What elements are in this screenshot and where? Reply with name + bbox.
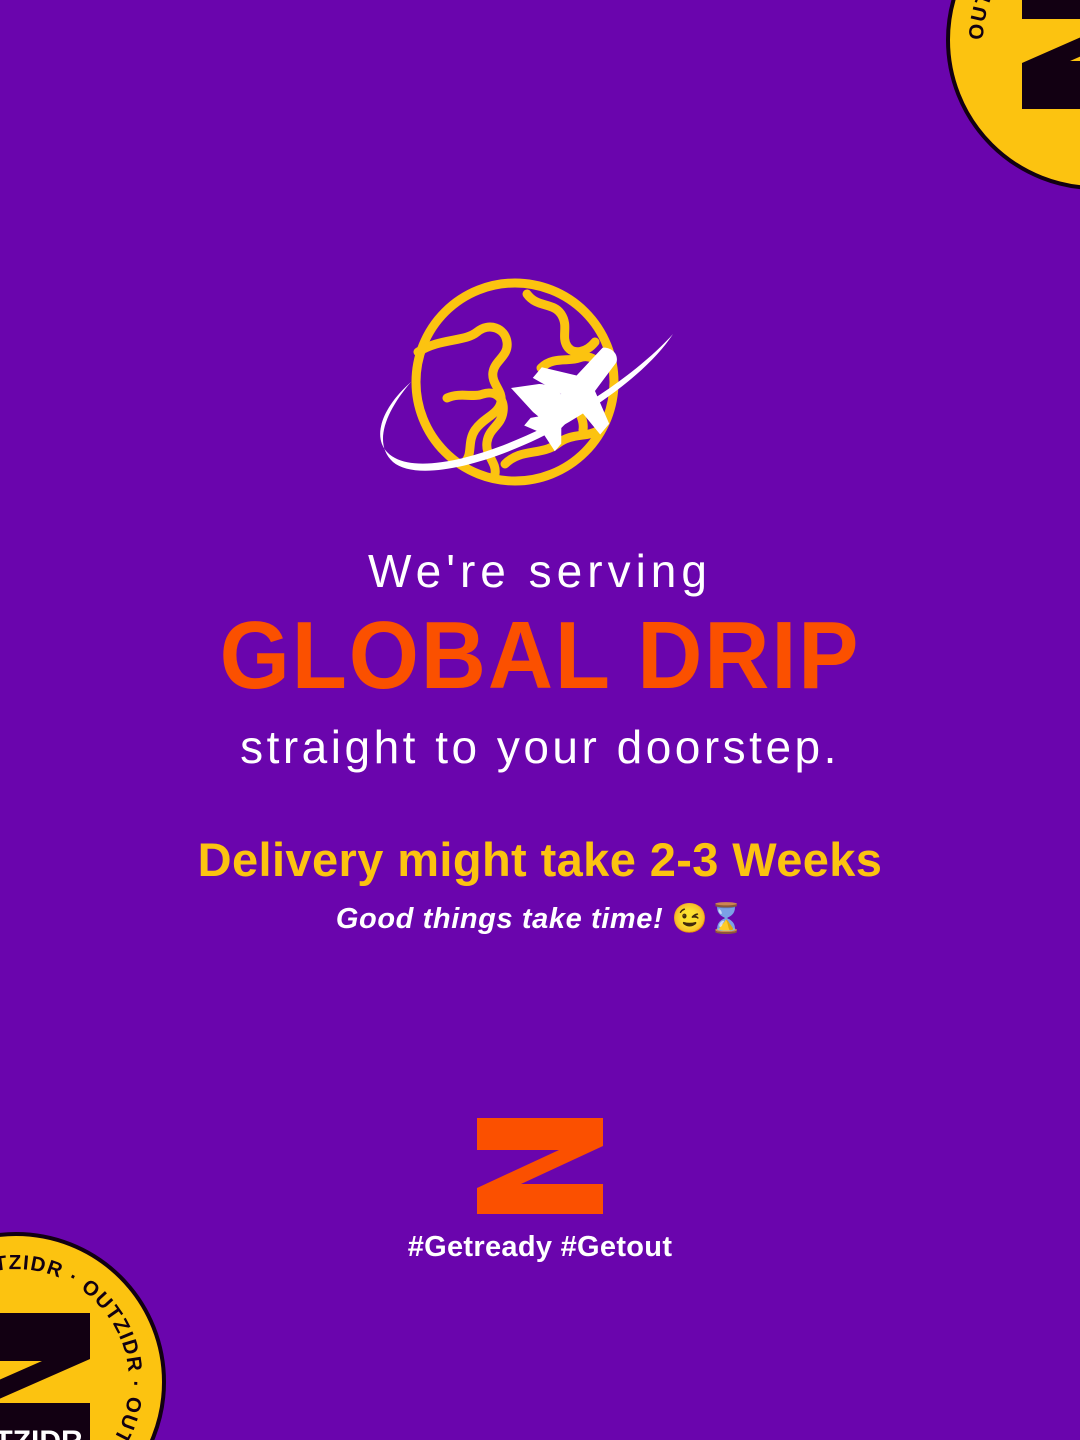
tagline-text: Good things take time! 😉⌛	[0, 905, 1080, 934]
globe-airplane-svg	[355, 272, 725, 504]
copy-block: We're serving GLOBAL DRIP straight to yo…	[0, 548, 1080, 934]
hashtags-text: #Getready #Getout	[0, 1231, 1080, 1264]
poster-canvas: OUTZIDR · OUTZIDR · OUTZIDR · OUTZIDR · …	[0, 0, 1080, 1440]
globe-airplane-icon	[355, 272, 725, 504]
footer-block: #Getready #Getout	[0, 1118, 1080, 1264]
z-logo-svg	[475, 1118, 605, 1214]
badge-top-right: OUTZIDR · OUTZIDR · OUTZIDR · OUTZIDR ·	[946, 0, 1080, 190]
z-logo-icon	[1014, 0, 1080, 115]
subline-text: straight to your doorstep.	[0, 724, 1080, 770]
eyebrow-text: We're serving	[0, 548, 1080, 594]
headline-text: GLOBAL DRIP	[32, 608, 1047, 704]
badge-wordmark: OUTZIDR	[0, 1423, 89, 1440]
tagline-label: Good things take time!	[336, 903, 663, 935]
wink-hourglass-emoji: 😉⌛	[672, 903, 744, 935]
z-logo-icon	[0, 1307, 98, 1440]
delivery-estimate-text: Delivery might take 2-3 Weeks	[0, 836, 1080, 883]
z-logo-icon	[475, 1118, 605, 1214]
